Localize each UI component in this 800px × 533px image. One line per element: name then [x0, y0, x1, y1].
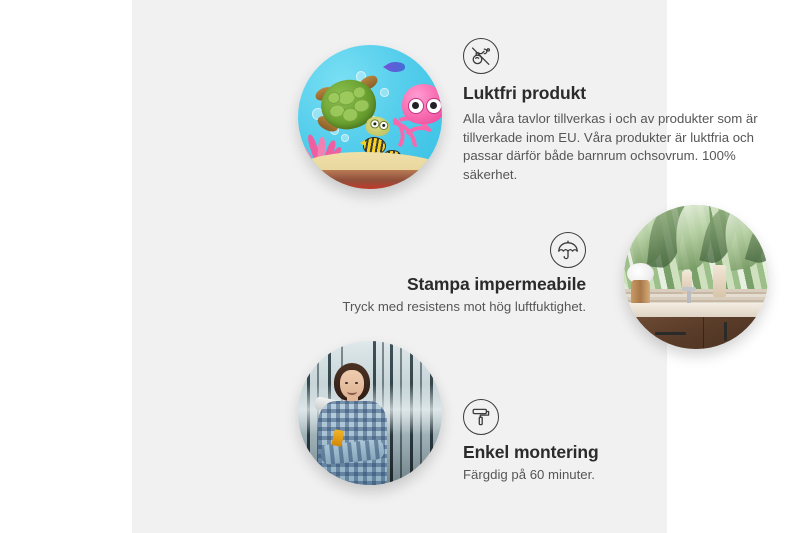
- feature-odorless: Luktfri produkt Alla våra tavlor tillver…: [463, 38, 763, 185]
- feature-description: Färgdig på 60 minuter.: [463, 466, 713, 485]
- product-image-painter-forest: [298, 341, 442, 485]
- feature-waterproof: Stampa impermeabile Tryck med resistens …: [328, 232, 586, 317]
- feature-title: Enkel montering: [463, 442, 713, 463]
- product-image-sea-life: [298, 45, 442, 189]
- feature-mounting: Enkel montering Färgdig på 60 minuter.: [463, 399, 713, 485]
- feature-title: Stampa impermeabile: [328, 274, 586, 295]
- umbrella-icon: [550, 232, 586, 268]
- feature-title: Luktfri produkt: [463, 83, 763, 104]
- feature-description: Tryck med resistens mot hög luftfuktighe…: [328, 298, 586, 317]
- promo-infographic: Luktfri produkt Alla våra tavlor tillver…: [0, 0, 800, 533]
- product-image-bathroom-tropical: [624, 205, 768, 349]
- feature-description: Alla våra tavlor tillverkas i och av pro…: [463, 110, 763, 185]
- no-odor-spray-bottle-icon: [463, 38, 499, 74]
- paint-roller-icon: [463, 399, 499, 435]
- content-panel: Luktfri produkt Alla våra tavlor tillver…: [132, 0, 667, 533]
